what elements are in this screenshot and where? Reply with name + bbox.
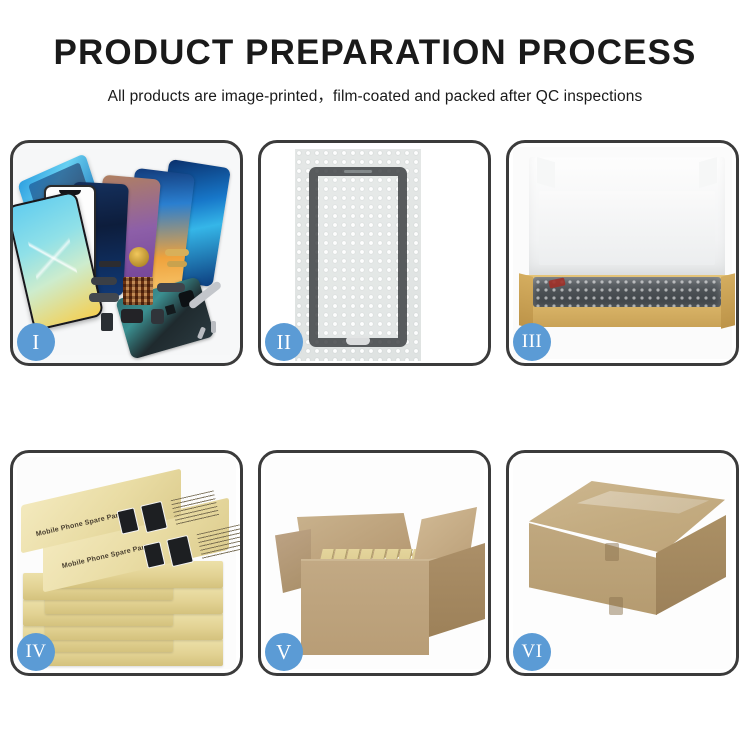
- stacked-boxes-photo: Mobile Phone Spare Parts Mobile Phone Sp…: [17, 457, 236, 669]
- page-header: PRODUCT PREPARATION PROCESS All products…: [0, 0, 750, 106]
- step-badge-4: IV: [17, 633, 55, 671]
- foam-padding: [539, 191, 715, 265]
- step-panel-2: II: [258, 140, 491, 366]
- part-connector: [101, 313, 113, 331]
- screen-frame: [309, 167, 407, 347]
- step-badge-5: V: [265, 633, 303, 671]
- part-cable-1: [91, 277, 117, 285]
- product-lineup-photo: [17, 149, 230, 355]
- part-speaker: [121, 309, 143, 323]
- step-badge-3: III: [513, 323, 551, 361]
- part-flex-cable-1: [165, 249, 189, 256]
- part-screw-1: [211, 321, 216, 333]
- step-panel-4: Mobile Phone Spare Parts Mobile Phone Sp…: [10, 450, 243, 676]
- carton-front-panel: [301, 561, 429, 655]
- part-coil: [129, 247, 149, 267]
- step-panel-6: VI: [506, 450, 739, 676]
- open-carton-photo: [265, 457, 484, 669]
- step-panel-3: III: [506, 140, 739, 366]
- step-panel-5: V: [258, 450, 491, 676]
- step-badge-1: I: [17, 323, 55, 361]
- sealed-carton-photo: [513, 457, 732, 669]
- carton-seal-tab-bottom: [609, 597, 623, 615]
- part-copper-mesh: [123, 277, 153, 305]
- process-steps-grid: I II III: [10, 140, 740, 676]
- carton-seal-tab-top: [605, 543, 619, 561]
- part-cable-2: [89, 293, 119, 302]
- part-flex-cable-2: [167, 261, 187, 267]
- step-panel-1: I: [10, 140, 243, 366]
- part-button: [151, 309, 164, 324]
- boxed-screen-photo: [513, 147, 732, 359]
- step-badge-6: VI: [513, 633, 551, 671]
- part-cable-3: [157, 283, 185, 292]
- step-badge-2: II: [265, 323, 303, 361]
- bubble-wrapped-screen-photo: [295, 149, 421, 361]
- page-title: PRODUCT PREPARATION PROCESS: [0, 34, 750, 73]
- page-subtitle: All products are image-printed，film-coat…: [0, 84, 750, 106]
- part-bar: [99, 261, 121, 267]
